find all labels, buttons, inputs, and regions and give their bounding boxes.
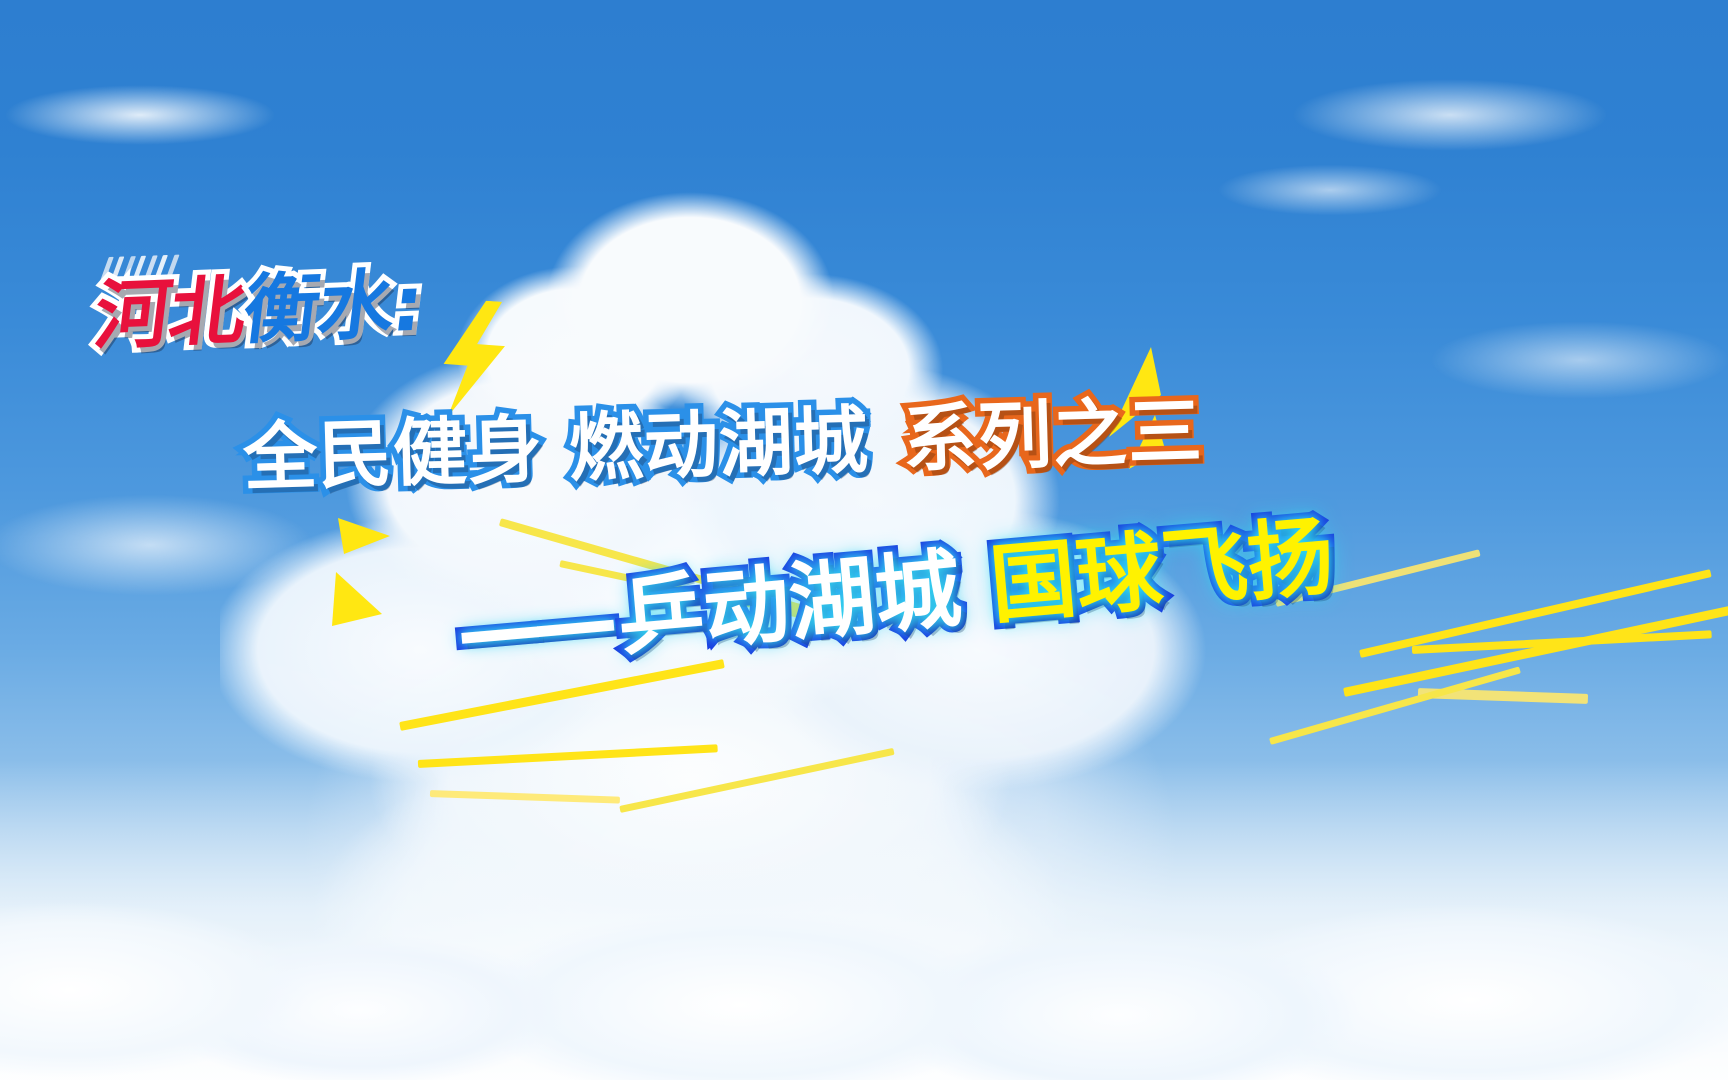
title-line2-seg3: 系列之三 [902, 395, 1204, 477]
speed-ray [619, 748, 894, 813]
title-line-1: 河北 衡水: [91, 266, 426, 354]
title-line3-dash: —— [453, 577, 612, 676]
title-block: 河北 衡水: 全民健身 燃动湖城 系 [0, 0, 1728, 1080]
title-line1-red: 河北 [91, 273, 249, 355]
speed-spark-icon [330, 510, 402, 635]
title-line2-seg2: 燃动湖城 [568, 404, 870, 486]
speed-ray [1343, 605, 1728, 697]
title-line3-seg2: 国球飞扬 [987, 514, 1337, 630]
lightning-bolt-icon [434, 298, 514, 421]
title-line1-blue: 衡水: [239, 266, 425, 349]
spacer [544, 474, 570, 475]
title-line3-seg1: 乒动湖城 [614, 546, 964, 662]
title-line-2: 全民健身 燃动湖城 系列之三 [242, 395, 1204, 496]
speed-ray [430, 790, 620, 804]
title-line2-seg1: 全民健身 [242, 413, 544, 495]
title-line-3: —— 乒动湖城 国球飞扬 [453, 514, 1337, 676]
speed-ray [418, 744, 718, 768]
title-card-stage: 河北 衡水: 全民健身 燃动湖城 系 [0, 0, 1728, 1080]
